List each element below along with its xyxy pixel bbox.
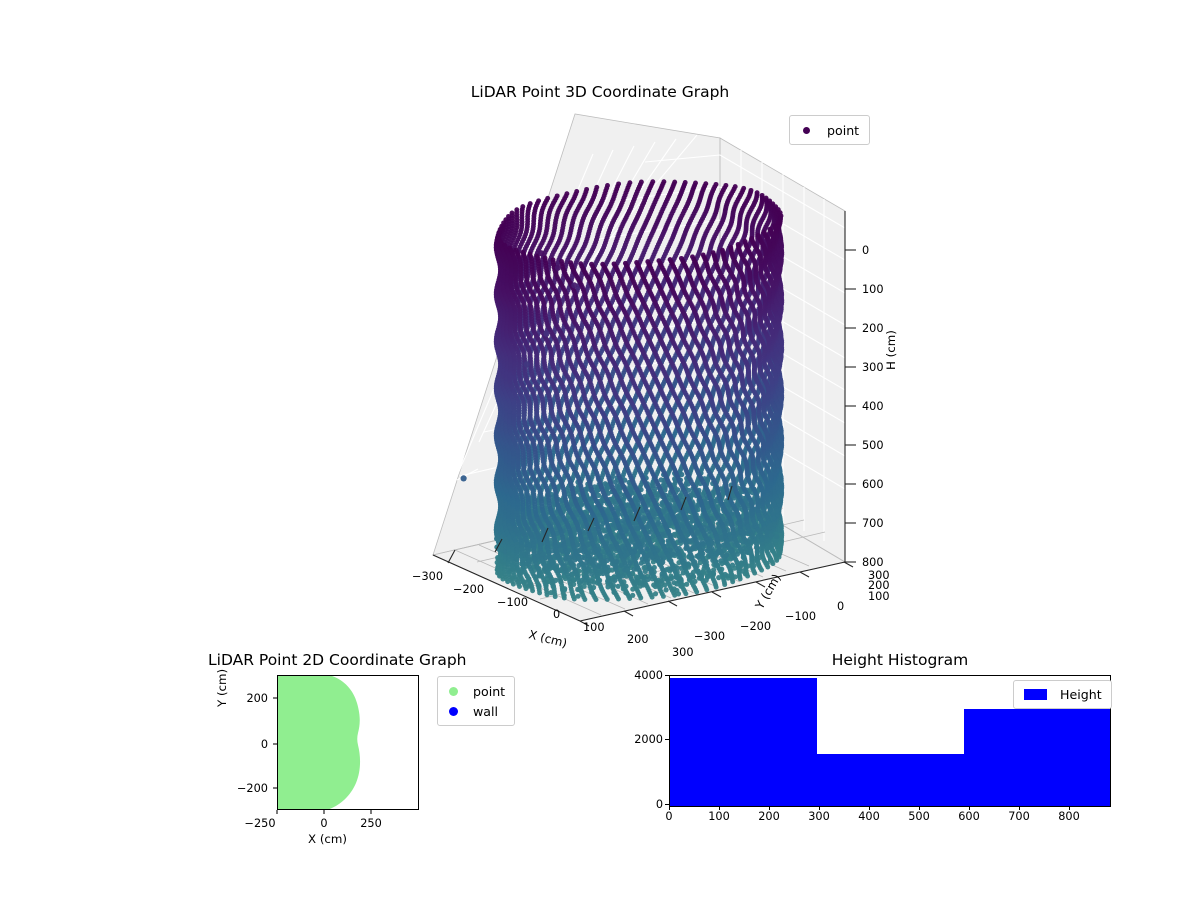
point-marker-icon (803, 127, 810, 134)
plot3d-svg: −300 −200 −100 0 100 200 300 −300 −200 −… (300, 110, 900, 630)
legend-item-wall: wall (444, 701, 505, 721)
legend-label: point (473, 684, 505, 699)
wall-marker-icon (449, 707, 458, 716)
legend-item-height: Height (1021, 685, 1102, 704)
plot3d-z-ticks (845, 250, 856, 562)
legend-label: wall (473, 704, 498, 719)
plot3d-zlabel: H (cm) (884, 330, 898, 370)
lidar-3d-plot-panel: LiDAR Point 3D Coordinate Graph (0, 0, 1200, 640)
plot2d-title: LiDAR Point 2D Coordinate Graph (208, 651, 466, 669)
plot2d-xlabel: X (cm) (308, 832, 347, 846)
plot2d-legend[interactable]: point wall (437, 676, 515, 726)
legend-label: point (827, 123, 859, 138)
histogram-bar (964, 709, 1111, 806)
height-swatch-icon (1024, 689, 1047, 700)
histogram-bar (670, 678, 817, 806)
histogram-bar (817, 754, 964, 806)
lidar-2d-plot-panel: LiDAR Point 2D Coordinate Graph −250 0 2… (0, 640, 540, 900)
height-histogram-panel: Height Histogram Height 0 100 200 300 40… (600, 640, 1200, 900)
legend-item-point: point (444, 681, 505, 701)
point-marker-icon (449, 687, 458, 696)
plot3d-title: LiDAR Point 3D Coordinate Graph (0, 83, 1200, 101)
histogram-title: Height Histogram (600, 651, 1200, 669)
legend-label: Height (1060, 687, 1102, 702)
plot3d-z-ticklabels: 0 100 200 300 400 500 600 700 800 (862, 244, 884, 569)
plot3d-canvas: −300 −200 −100 0 100 200 300 −300 −200 −… (300, 110, 900, 630)
plot2d-ylabel: Y (cm) (215, 669, 229, 707)
plot3d-legend[interactable]: point (789, 115, 870, 145)
legend-item-point: point (798, 120, 859, 140)
histogram-legend[interactable]: Height (1013, 680, 1112, 709)
